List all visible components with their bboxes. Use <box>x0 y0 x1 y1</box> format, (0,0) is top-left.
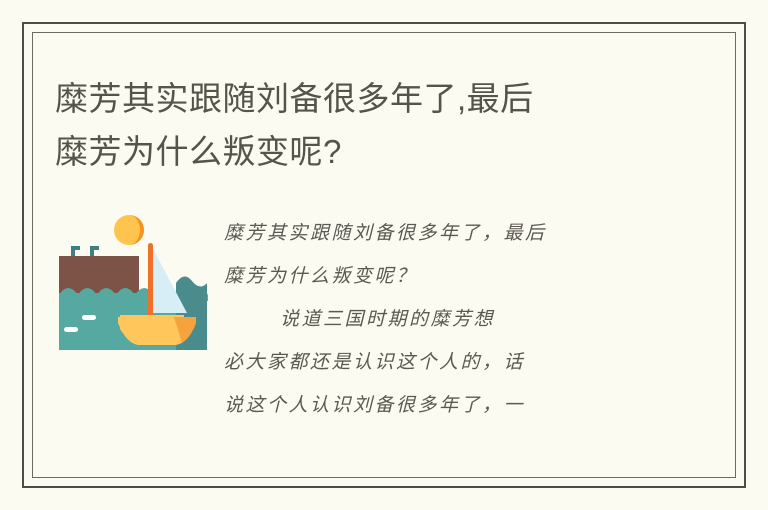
seaside-sailboat-illustration <box>56 205 210 353</box>
article-body-line-2: 糜芳为什么叛变呢？ <box>224 255 654 298</box>
article-body-line-4: 必大家都还是认识这个人的，话 <box>224 341 654 384</box>
page-title-line-1: 糜芳其实跟随刘备很多年了,最后 <box>55 72 675 125</box>
page-title: 糜芳其实跟随刘备很多年了,最后 糜芳为什么叛变呢? <box>55 72 675 178</box>
page-title-line-2: 糜芳为什么叛变呢? <box>55 125 675 178</box>
article-content: 糜芳其实跟随刘备很多年了,最后 糜芳为什么叛变呢? <box>0 0 768 510</box>
article-body-line-5: 说这个人认识刘备很多年了，一 <box>224 384 654 427</box>
article-body-line-1: 糜芳其实跟随刘备很多年了，最后 <box>224 212 654 255</box>
sun-icon <box>114 215 144 245</box>
page-root: 糜芳其实跟随刘备很多年了,最后 糜芳为什么叛变呢? <box>0 0 768 510</box>
article-body-line-3: 说道三国时期的糜芳想 <box>224 298 654 341</box>
article-body: 糜芳其实跟随刘备很多年了，最后 糜芳为什么叛变呢？ 说道三国时期的糜芳想 必大家… <box>224 212 654 427</box>
